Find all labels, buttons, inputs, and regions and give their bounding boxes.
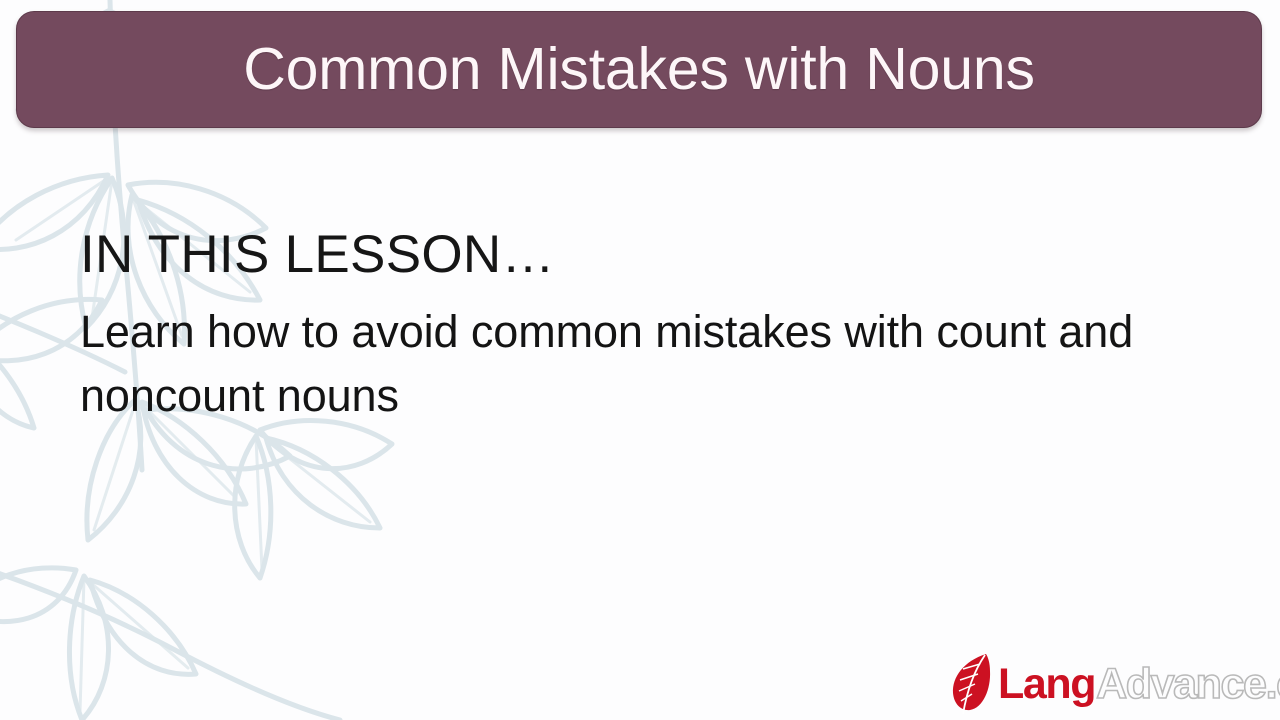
leaf-icon: [950, 653, 996, 715]
logo-brand-primary: Lang: [998, 663, 1095, 706]
lesson-description: Learn how to avoid common mistakes with …: [80, 300, 1190, 428]
slide-content: IN THIS LESSON… Learn how to avoid commo…: [80, 225, 1190, 428]
lesson-heading: IN THIS LESSON…: [80, 225, 1190, 284]
page-title: Common Mistakes with Nouns: [243, 40, 1035, 99]
logo-brand-secondary: Advance.com: [1096, 663, 1280, 706]
logo-wordmark: LangAdvance.com academy: [998, 663, 1280, 706]
slide-title-banner: Common Mistakes with Nouns: [16, 11, 1262, 128]
brand-logo[interactable]: LangAdvance.com academy: [950, 648, 1280, 720]
slide-canvas: Common Mistakes with Nouns IN THIS LESSO…: [0, 0, 1280, 720]
